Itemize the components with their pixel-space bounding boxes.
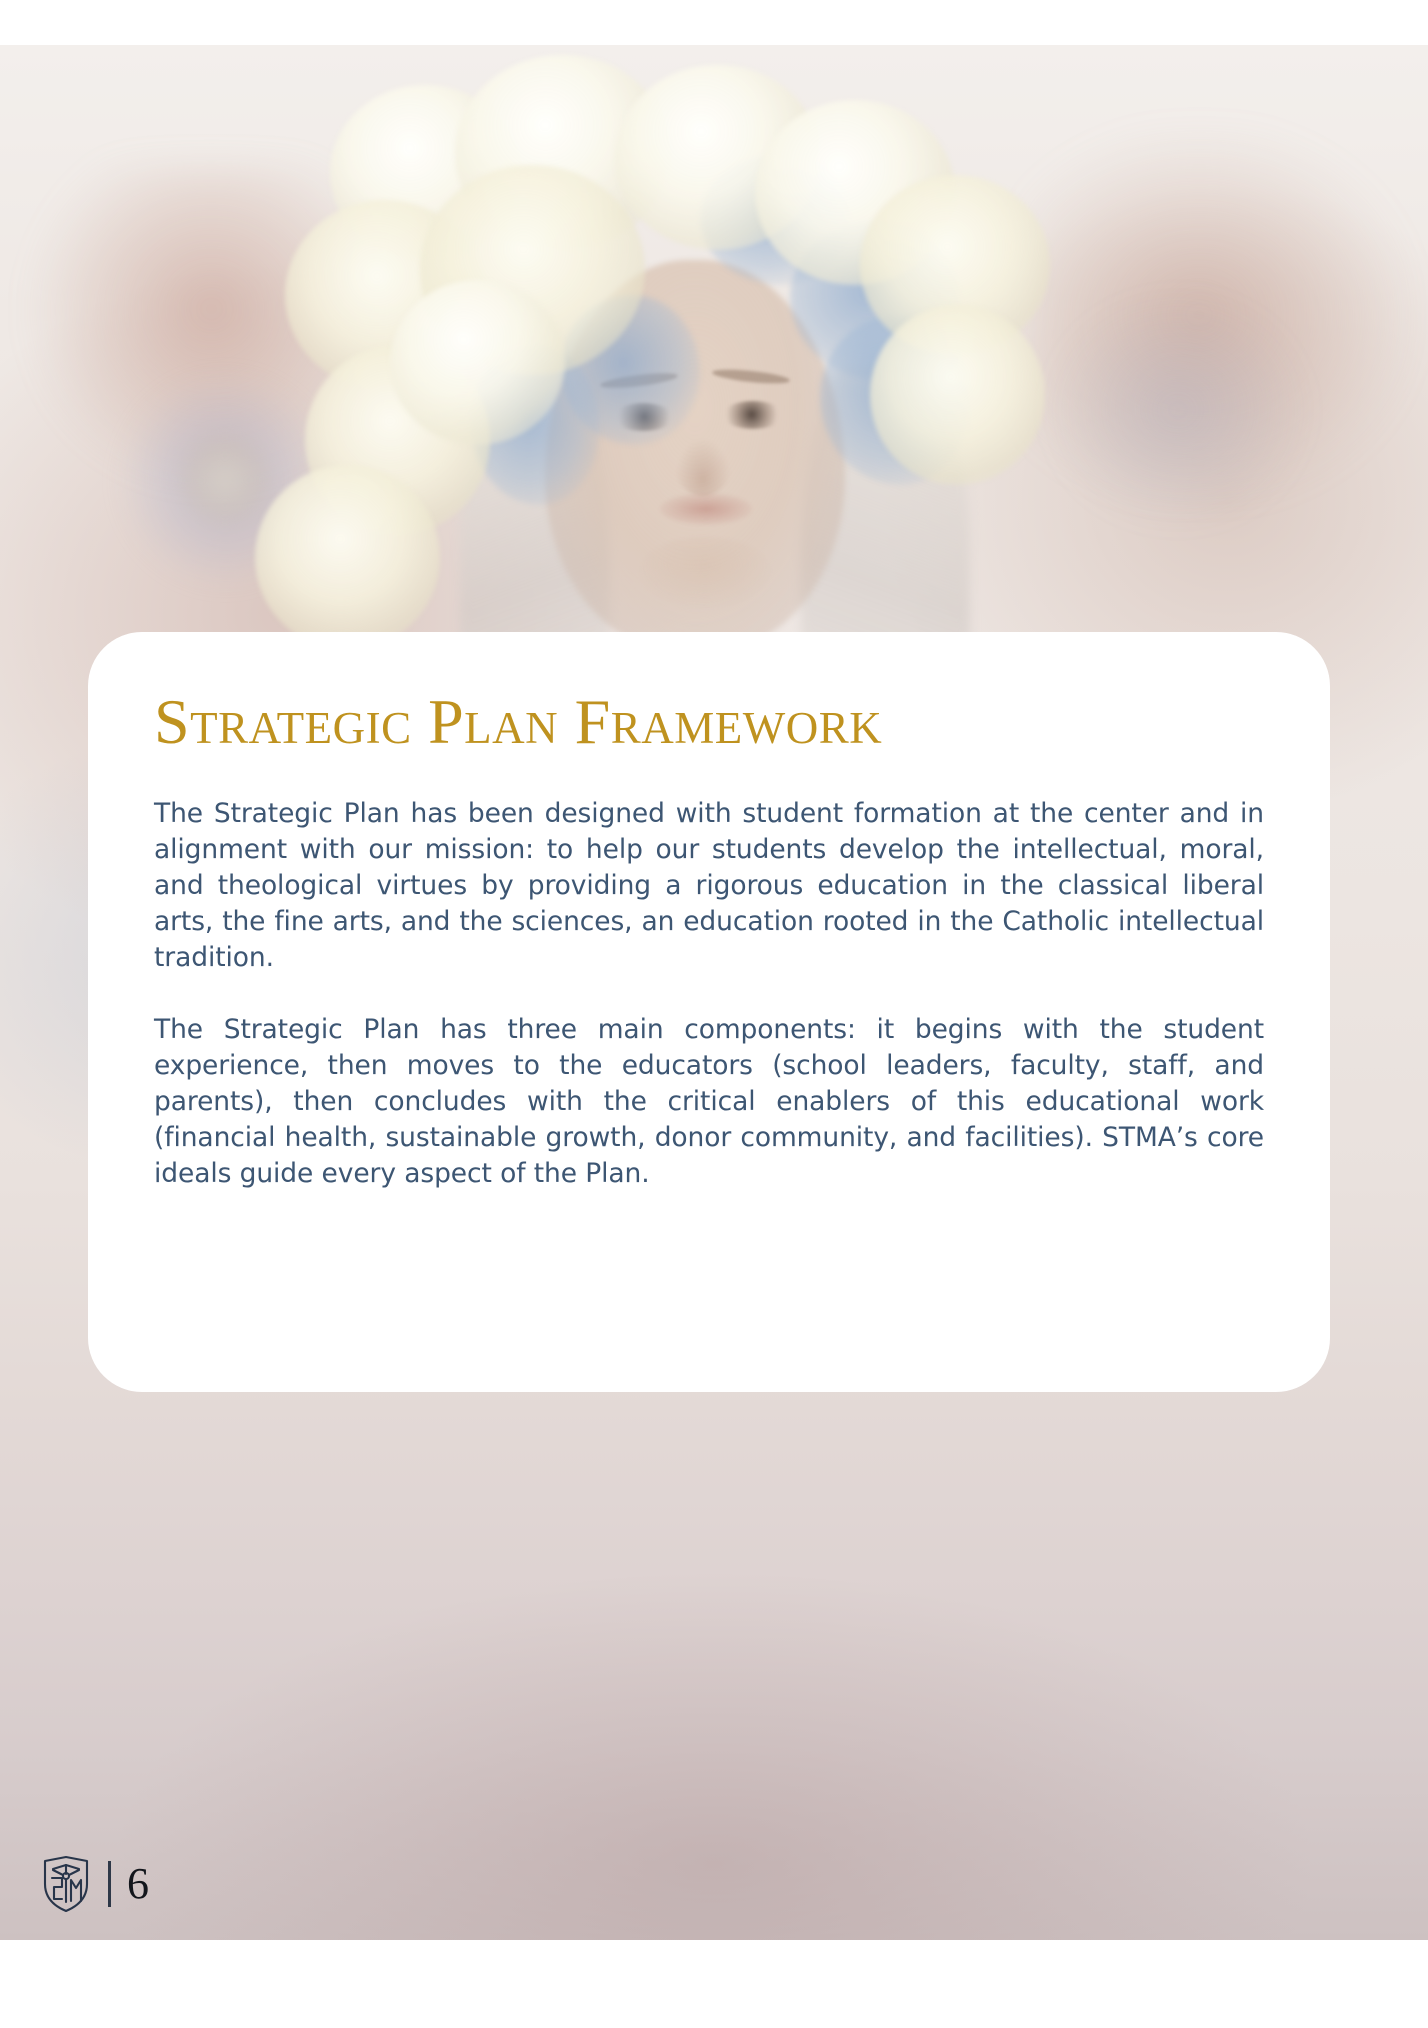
page-title: Strategic Plan Framework: [154, 688, 1264, 756]
rose-bloom: [390, 280, 565, 445]
page-number: 6: [127, 1862, 149, 1906]
document-page: Strategic Plan Framework The Strategic P…: [0, 0, 1428, 2028]
stm-shield-crest-icon: [40, 1854, 92, 1914]
statue-chin: [640, 537, 770, 607]
body-paragraph-1: The Strategic Plan has been designed wit…: [154, 796, 1264, 976]
statue-lips: [660, 493, 752, 525]
statue-nose: [676, 440, 730, 496]
page-footer: 6: [40, 1852, 149, 1916]
rose-bloom: [255, 465, 440, 650]
body-paragraph-2: The Strategic Plan has three main compon…: [154, 1012, 1264, 1192]
fresco-bloom-right-lower: [1048, 295, 1308, 525]
card-body: The Strategic Plan has been designed wit…: [154, 756, 1264, 1192]
footer-divider: [108, 1861, 111, 1907]
content-card: Strategic Plan Framework The Strategic P…: [88, 632, 1330, 1392]
statue-eye-right: [722, 401, 784, 429]
rose-bloom: [870, 305, 1045, 485]
